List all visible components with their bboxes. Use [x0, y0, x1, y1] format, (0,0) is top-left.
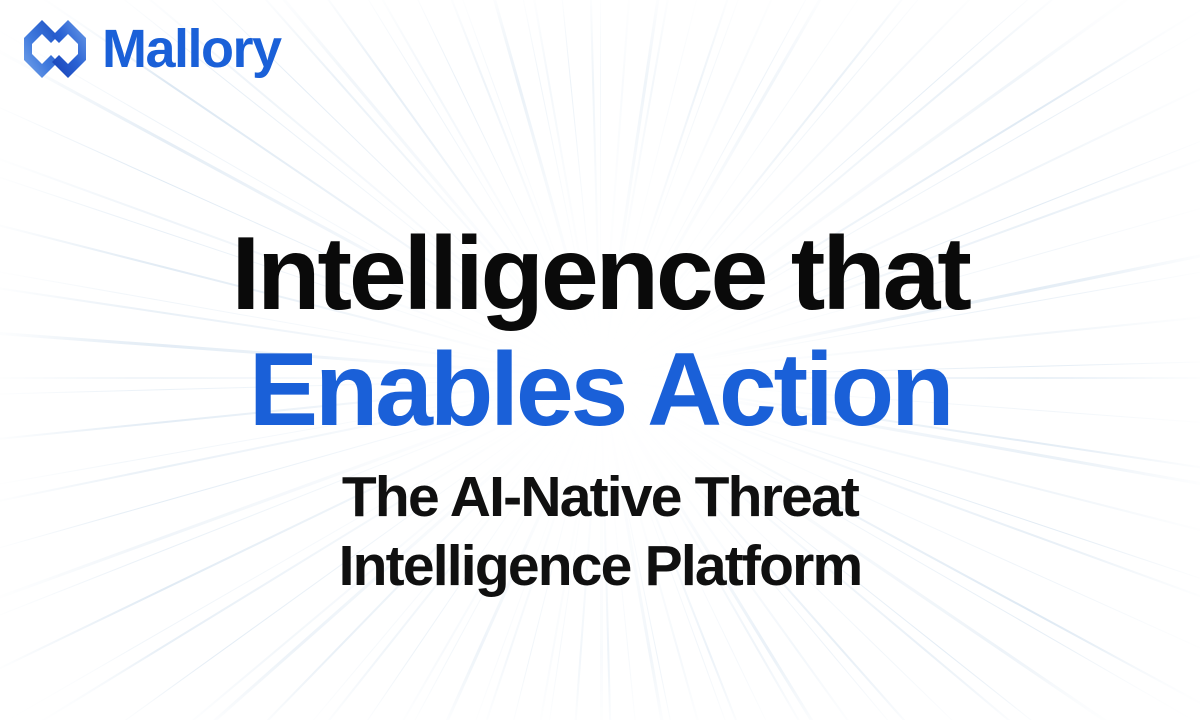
hero-copy: Intelligence that Enables Action The AI-…	[0, 216, 1200, 602]
subheadline: The AI-Native Threat Intelligence Platfo…	[0, 463, 1200, 602]
hero-slide: Mallory Intelligence that Enables Action…	[0, 0, 1200, 720]
headline-line-1: Intelligence that	[0, 216, 1200, 332]
brand-lockup[interactable]: Mallory	[22, 18, 281, 80]
brand-name: Mallory	[102, 22, 281, 76]
headline-line-2: Enables Action	[0, 332, 1200, 448]
subheadline-line-1: The AI-Native Threat	[0, 463, 1200, 533]
subheadline-line-2: Intelligence Platform	[0, 532, 1200, 602]
mallory-infinity-mark-icon	[22, 18, 88, 80]
